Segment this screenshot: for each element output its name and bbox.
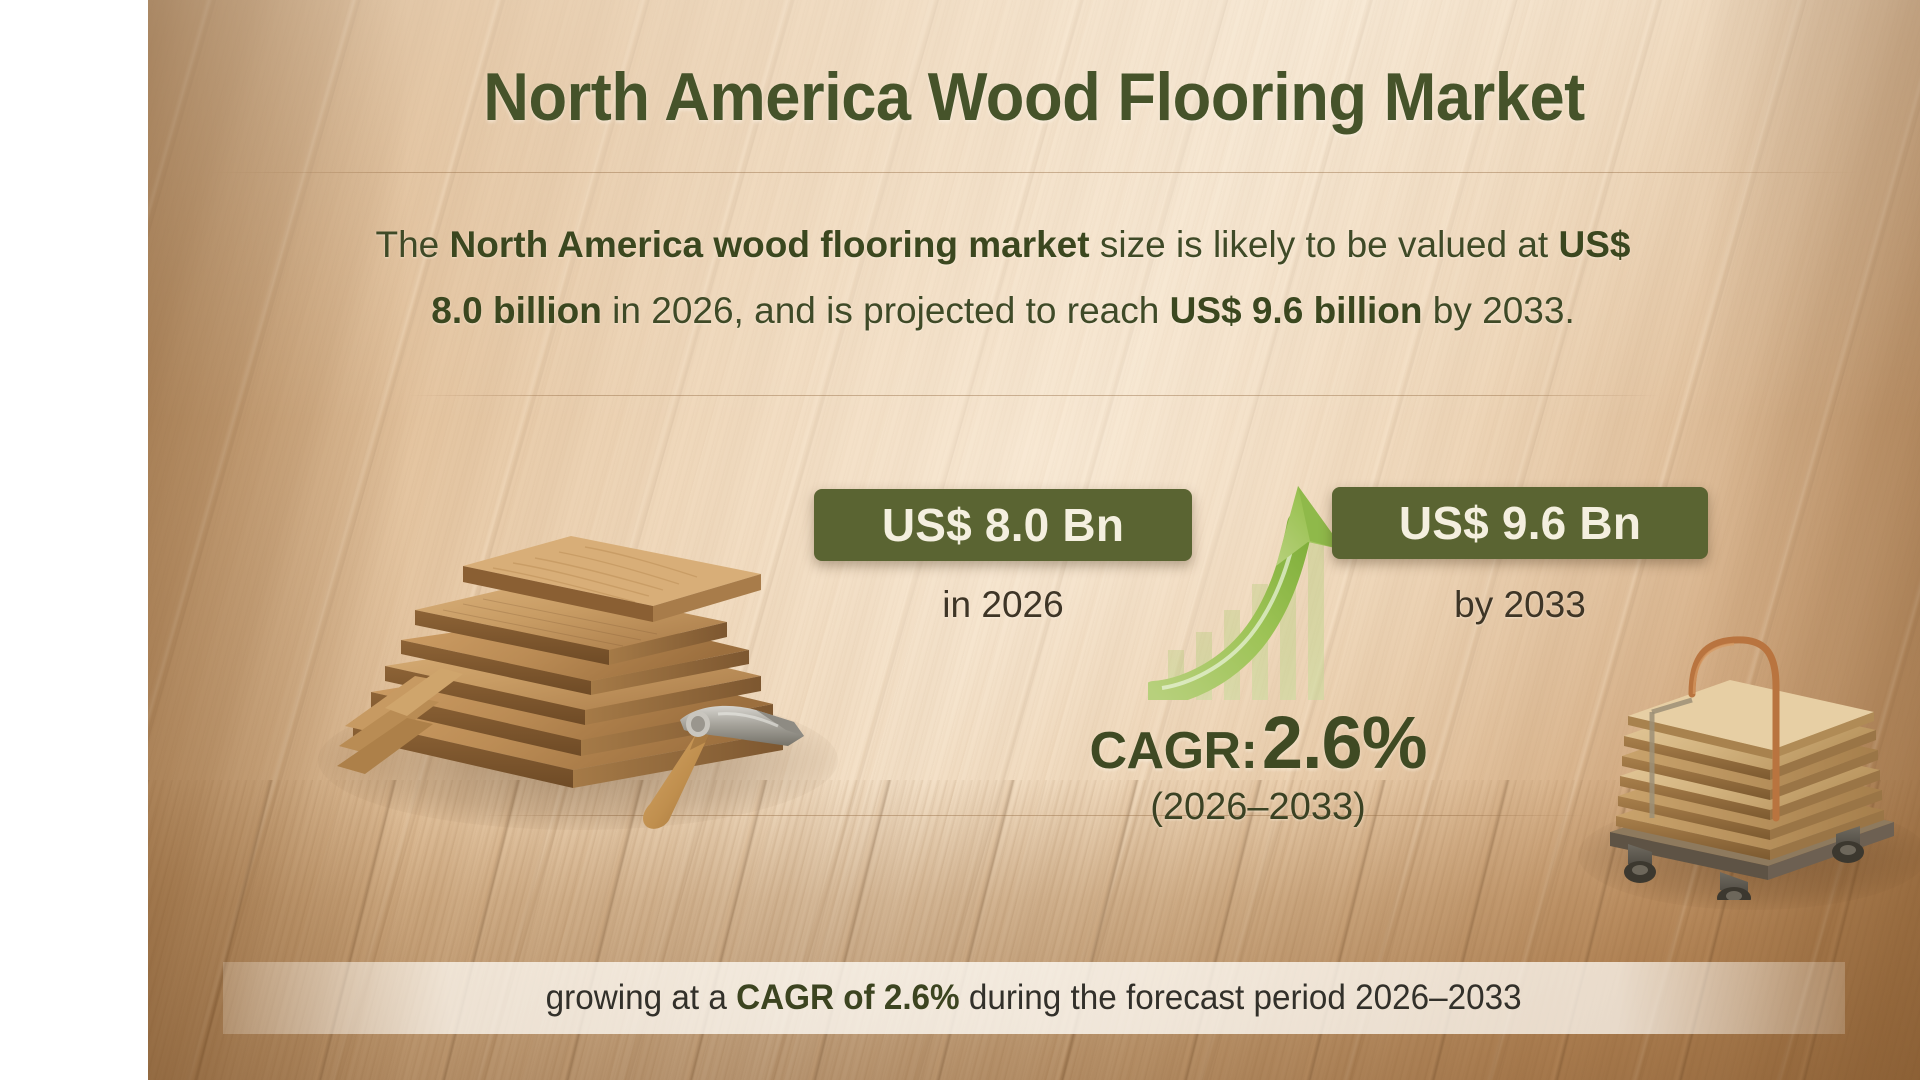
badge-end-value: US$ 9.6 Bn bbox=[1332, 487, 1708, 559]
page-title: North America Wood Flooring Market bbox=[210, 58, 1858, 136]
divider-middle bbox=[408, 395, 1660, 396]
divider-top bbox=[208, 172, 1860, 173]
footer-part-2: during the forecast period 2026–2033 bbox=[960, 978, 1522, 1017]
badge-start-value: US$ 8.0 Bn bbox=[814, 489, 1192, 561]
cagr-label: CAGR: bbox=[1089, 722, 1257, 780]
wood-plank-stack-image bbox=[323, 470, 823, 810]
summary-part-3: in 2026, and is projected to reach bbox=[602, 290, 1170, 331]
cagr-period: (2026–2033) bbox=[808, 786, 1708, 829]
summary-part-1: The bbox=[376, 224, 450, 265]
footer-text: growing at a CAGR of 2.6% during the for… bbox=[546, 978, 1522, 1018]
market-summary-text: The North America wood flooring market s… bbox=[358, 212, 1648, 344]
hammer-tool-image bbox=[618, 700, 828, 840]
badge-end-caption: by 2033 bbox=[1332, 584, 1708, 626]
summary-part-4: by 2033. bbox=[1423, 290, 1575, 331]
summary-bold-end-value: US$ 9.6 billion bbox=[1170, 290, 1423, 331]
summary-part-2: size is likely to be valued at bbox=[1090, 224, 1559, 265]
footer-banner: growing at a CAGR of 2.6% during the for… bbox=[223, 962, 1845, 1034]
cagr-value: 2.6% bbox=[1262, 701, 1427, 784]
footer-part-1: growing at a bbox=[546, 978, 736, 1017]
background-left-shade bbox=[148, 0, 408, 1080]
badge-start-caption: in 2026 bbox=[814, 584, 1192, 626]
cagr-headline: CAGR: 2.6% bbox=[808, 700, 1708, 785]
footer-bold-cagr: CAGR of 2.6% bbox=[736, 978, 960, 1017]
infographic-canvas: North America Wood Flooring Market The N… bbox=[0, 0, 1920, 1080]
wood-background: North America Wood Flooring Market The N… bbox=[148, 0, 1920, 1080]
summary-bold-market: North America wood flooring market bbox=[450, 224, 1090, 265]
plank-stack-shadow bbox=[318, 690, 838, 830]
background-right-shade bbox=[1700, 0, 1920, 1080]
